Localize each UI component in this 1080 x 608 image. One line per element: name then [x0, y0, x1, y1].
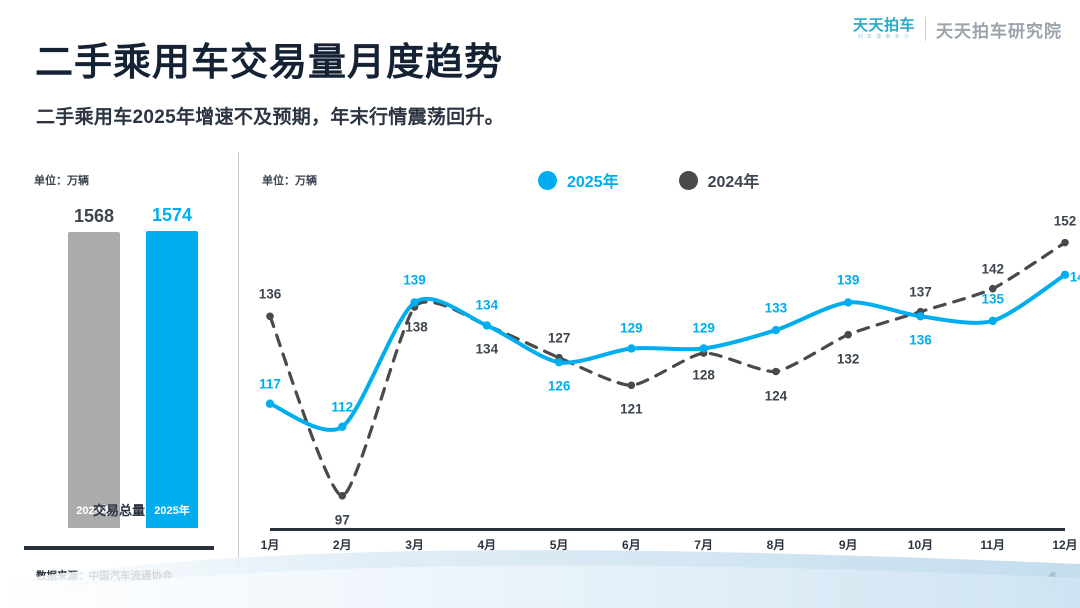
data-point-2025年	[338, 423, 346, 431]
brand-logo: 天天拍车 问 车 能 卖 多 少 天天拍车研究院	[853, 12, 1062, 46]
data-point-2025年	[627, 344, 635, 352]
bar-unit-label: 单位：万辆	[34, 172, 89, 188]
month-label-12: 12月	[1052, 536, 1077, 553]
month-label-11: 11月	[980, 536, 1005, 553]
page-subtitle: 二手乘用车2025年增速不及预期，年末行情震荡回升。	[36, 102, 504, 129]
month-label-1: 1月	[261, 536, 280, 553]
data-point-2024年	[772, 368, 780, 376]
series-line-2025年	[270, 275, 1065, 430]
data-point-2025年	[699, 344, 707, 352]
series-line-2024年	[270, 243, 1065, 496]
month-label-7: 7月	[694, 536, 713, 553]
brand-mark: 天天拍车 问 车 能 卖 多 少	[853, 18, 915, 40]
page-title: 二手乘用车交易量月度趋势	[35, 43, 503, 85]
line-series-svg	[238, 160, 1080, 560]
bar-value-label: 1568	[74, 206, 114, 227]
bar-value-label: 1574	[152, 205, 192, 226]
data-point-2024年	[266, 312, 274, 320]
data-point-2025年	[916, 312, 924, 320]
data-point-2024年	[844, 331, 852, 339]
month-axis-line	[270, 528, 1065, 531]
month-labels: 1月2月3月4月5月6月7月8月9月10月11月12月	[270, 536, 1065, 558]
data-point-2024年	[628, 382, 636, 390]
brand-mark-sub: 问 车 能 卖 多 少	[858, 35, 910, 40]
bar-rect: 15742025年	[146, 231, 198, 528]
page-number: 4	[1044, 566, 1058, 597]
month-label-10: 10月	[908, 536, 933, 553]
data-point-2024年	[338, 492, 346, 500]
data-point-2025年	[989, 317, 997, 325]
data-point-2025年	[555, 358, 563, 366]
slide-root: 天天拍车 问 车 能 卖 多 少 天天拍车研究院 二手乘用车交易量月度趋势 二手…	[0, 0, 1080, 608]
data-point-2025年	[266, 400, 274, 408]
brand-institute: 天天拍车研究院	[936, 17, 1062, 42]
bar-column-2025年: 15742025年	[146, 231, 198, 528]
month-label-9: 9月	[839, 536, 858, 553]
data-point-2025年	[772, 326, 780, 334]
brand-divider	[925, 17, 926, 41]
bar-chart-panel: 单位：万辆 15682024年15742025年 交易总量	[0, 160, 238, 550]
bar-rect: 15682024年	[68, 232, 120, 528]
data-point-2025年	[1061, 271, 1069, 279]
brand-mark-main: 天天拍车	[853, 18, 915, 33]
bar-axis-line	[24, 546, 214, 550]
line-chart-panel: 单位：万辆 2025年2024年 11711213913412612912913…	[238, 160, 1080, 560]
data-point-2024年	[989, 285, 997, 293]
month-label-3: 3月	[405, 536, 424, 553]
bar-column-2024年: 15682024年	[68, 232, 120, 528]
bar-plot-area: 15682024年15742025年	[38, 202, 208, 532]
data-point-2025年	[483, 321, 491, 329]
data-point-2025年	[410, 298, 418, 306]
bar-x-axis-label: 交易总量	[0, 500, 238, 519]
data-point-2025年	[844, 298, 852, 306]
month-label-6: 6月	[622, 536, 641, 553]
data-source-note: 数据来源：中国汽车流通协会	[36, 568, 173, 583]
line-plot-area: 1171121391341261291291331391361351451369…	[238, 160, 1080, 560]
data-point-2024年	[1061, 239, 1069, 247]
month-label-5: 5月	[550, 536, 569, 553]
month-label-2: 2月	[333, 536, 352, 553]
month-label-8: 8月	[767, 536, 786, 553]
month-label-4: 4月	[477, 536, 496, 553]
